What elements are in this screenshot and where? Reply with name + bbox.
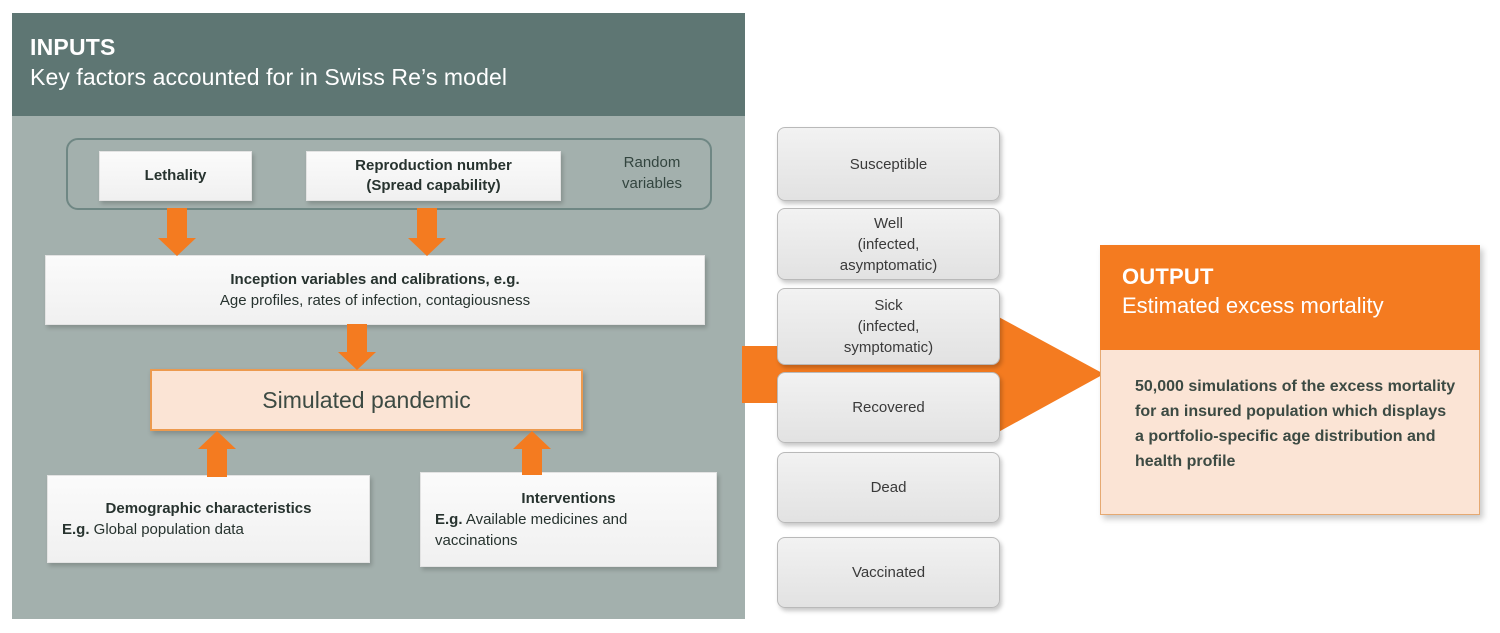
state-well-label: Well bbox=[874, 213, 903, 234]
box-inception-subtitle: Age profiles, rates of infection, contag… bbox=[220, 290, 530, 311]
state-susceptible-label: Susceptible bbox=[850, 154, 928, 175]
box-interventions-subtitle-text: Available medicines and vaccinations bbox=[435, 511, 627, 549]
state-box-recovered: Recovered bbox=[777, 372, 1000, 443]
state-vaccinated-label: Vaccinated bbox=[852, 562, 925, 583]
diagram-canvas: INPUTS Key factors accounted for in Swis… bbox=[0, 0, 1500, 633]
state-sick-label: Sick bbox=[874, 295, 902, 316]
arrow-up-interventions-icon bbox=[512, 431, 552, 475]
box-lethality-title: Lethality bbox=[145, 166, 207, 186]
box-demographic-subtitle-text: Global population data bbox=[90, 521, 244, 538]
box-simulated-title: Simulated pandemic bbox=[262, 387, 470, 414]
state-box-susceptible: Susceptible bbox=[777, 127, 1000, 201]
state-box-sick: Sick (infected, symptomatic) bbox=[777, 288, 1000, 365]
state-box-dead: Dead bbox=[777, 452, 1000, 523]
box-lethality: Lethality bbox=[99, 151, 252, 201]
inputs-subtitle: Key factors accounted for in Swiss Re’s … bbox=[30, 62, 745, 93]
random-variables-label: Random variables bbox=[597, 152, 707, 194]
output-subtitle: Estimated excess mortality bbox=[1122, 291, 1480, 321]
output-panel: OUTPUT Estimated excess mortality 50,000… bbox=[1100, 245, 1480, 515]
state-box-well: Well (infected, asymptomatic) bbox=[777, 208, 1000, 280]
inputs-panel: INPUTS Key factors accounted for in Swis… bbox=[12, 13, 745, 619]
box-demographic-title: Demographic characteristics bbox=[62, 499, 355, 519]
box-reproduction-number: Reproduction number (Spread capability) bbox=[306, 151, 561, 201]
box-interventions-title: Interventions bbox=[435, 489, 702, 509]
output-title: OUTPUT bbox=[1122, 262, 1480, 291]
inputs-header: INPUTS Key factors accounted for in Swis… bbox=[12, 13, 745, 116]
arrow-up-demographic-icon bbox=[197, 431, 237, 477]
box-interventions-subtitle: E.g. Available medicines and vaccination… bbox=[435, 509, 702, 551]
box-interventions: Interventions E.g. Available medicines a… bbox=[420, 472, 717, 567]
random-variables-line2: variables bbox=[597, 173, 707, 194]
box-simulated-pandemic: Simulated pandemic bbox=[150, 369, 583, 431]
state-well-sub2: asymptomatic) bbox=[840, 255, 938, 276]
state-recovered-label: Recovered bbox=[852, 397, 925, 418]
state-well-sub1: (infected, bbox=[858, 234, 920, 255]
state-sick-sub1: (infected, bbox=[858, 316, 920, 337]
box-reproduction-title: Reproduction number bbox=[355, 156, 512, 176]
box-inception-title: Inception variables and calibrations, e.… bbox=[230, 270, 519, 290]
arrow-down-reproduction-icon bbox=[407, 208, 447, 256]
box-demographic-eg: E.g. bbox=[62, 521, 90, 538]
state-box-vaccinated: Vaccinated bbox=[777, 537, 1000, 608]
box-interventions-eg: E.g. bbox=[435, 511, 463, 528]
box-demographic-subtitle: E.g. Global population data bbox=[62, 519, 244, 540]
random-variables-line1: Random bbox=[597, 152, 707, 173]
box-inception-variables: Inception variables and calibrations, e.… bbox=[45, 255, 705, 325]
box-demographic-characteristics: Demographic characteristics E.g. Global … bbox=[47, 475, 370, 563]
state-dead-label: Dead bbox=[871, 477, 907, 498]
state-sick-sub2: symptomatic) bbox=[844, 337, 933, 358]
inputs-title: INPUTS bbox=[30, 33, 745, 62]
arrow-down-lethality-icon bbox=[157, 208, 197, 256]
box-reproduction-subtitle: (Spread capability) bbox=[366, 176, 500, 196]
arrow-down-inception-icon bbox=[337, 324, 377, 370]
output-header: OUTPUT Estimated excess mortality bbox=[1100, 245, 1480, 350]
output-body-text: 50,000 simulations of the excess mortali… bbox=[1100, 350, 1480, 515]
